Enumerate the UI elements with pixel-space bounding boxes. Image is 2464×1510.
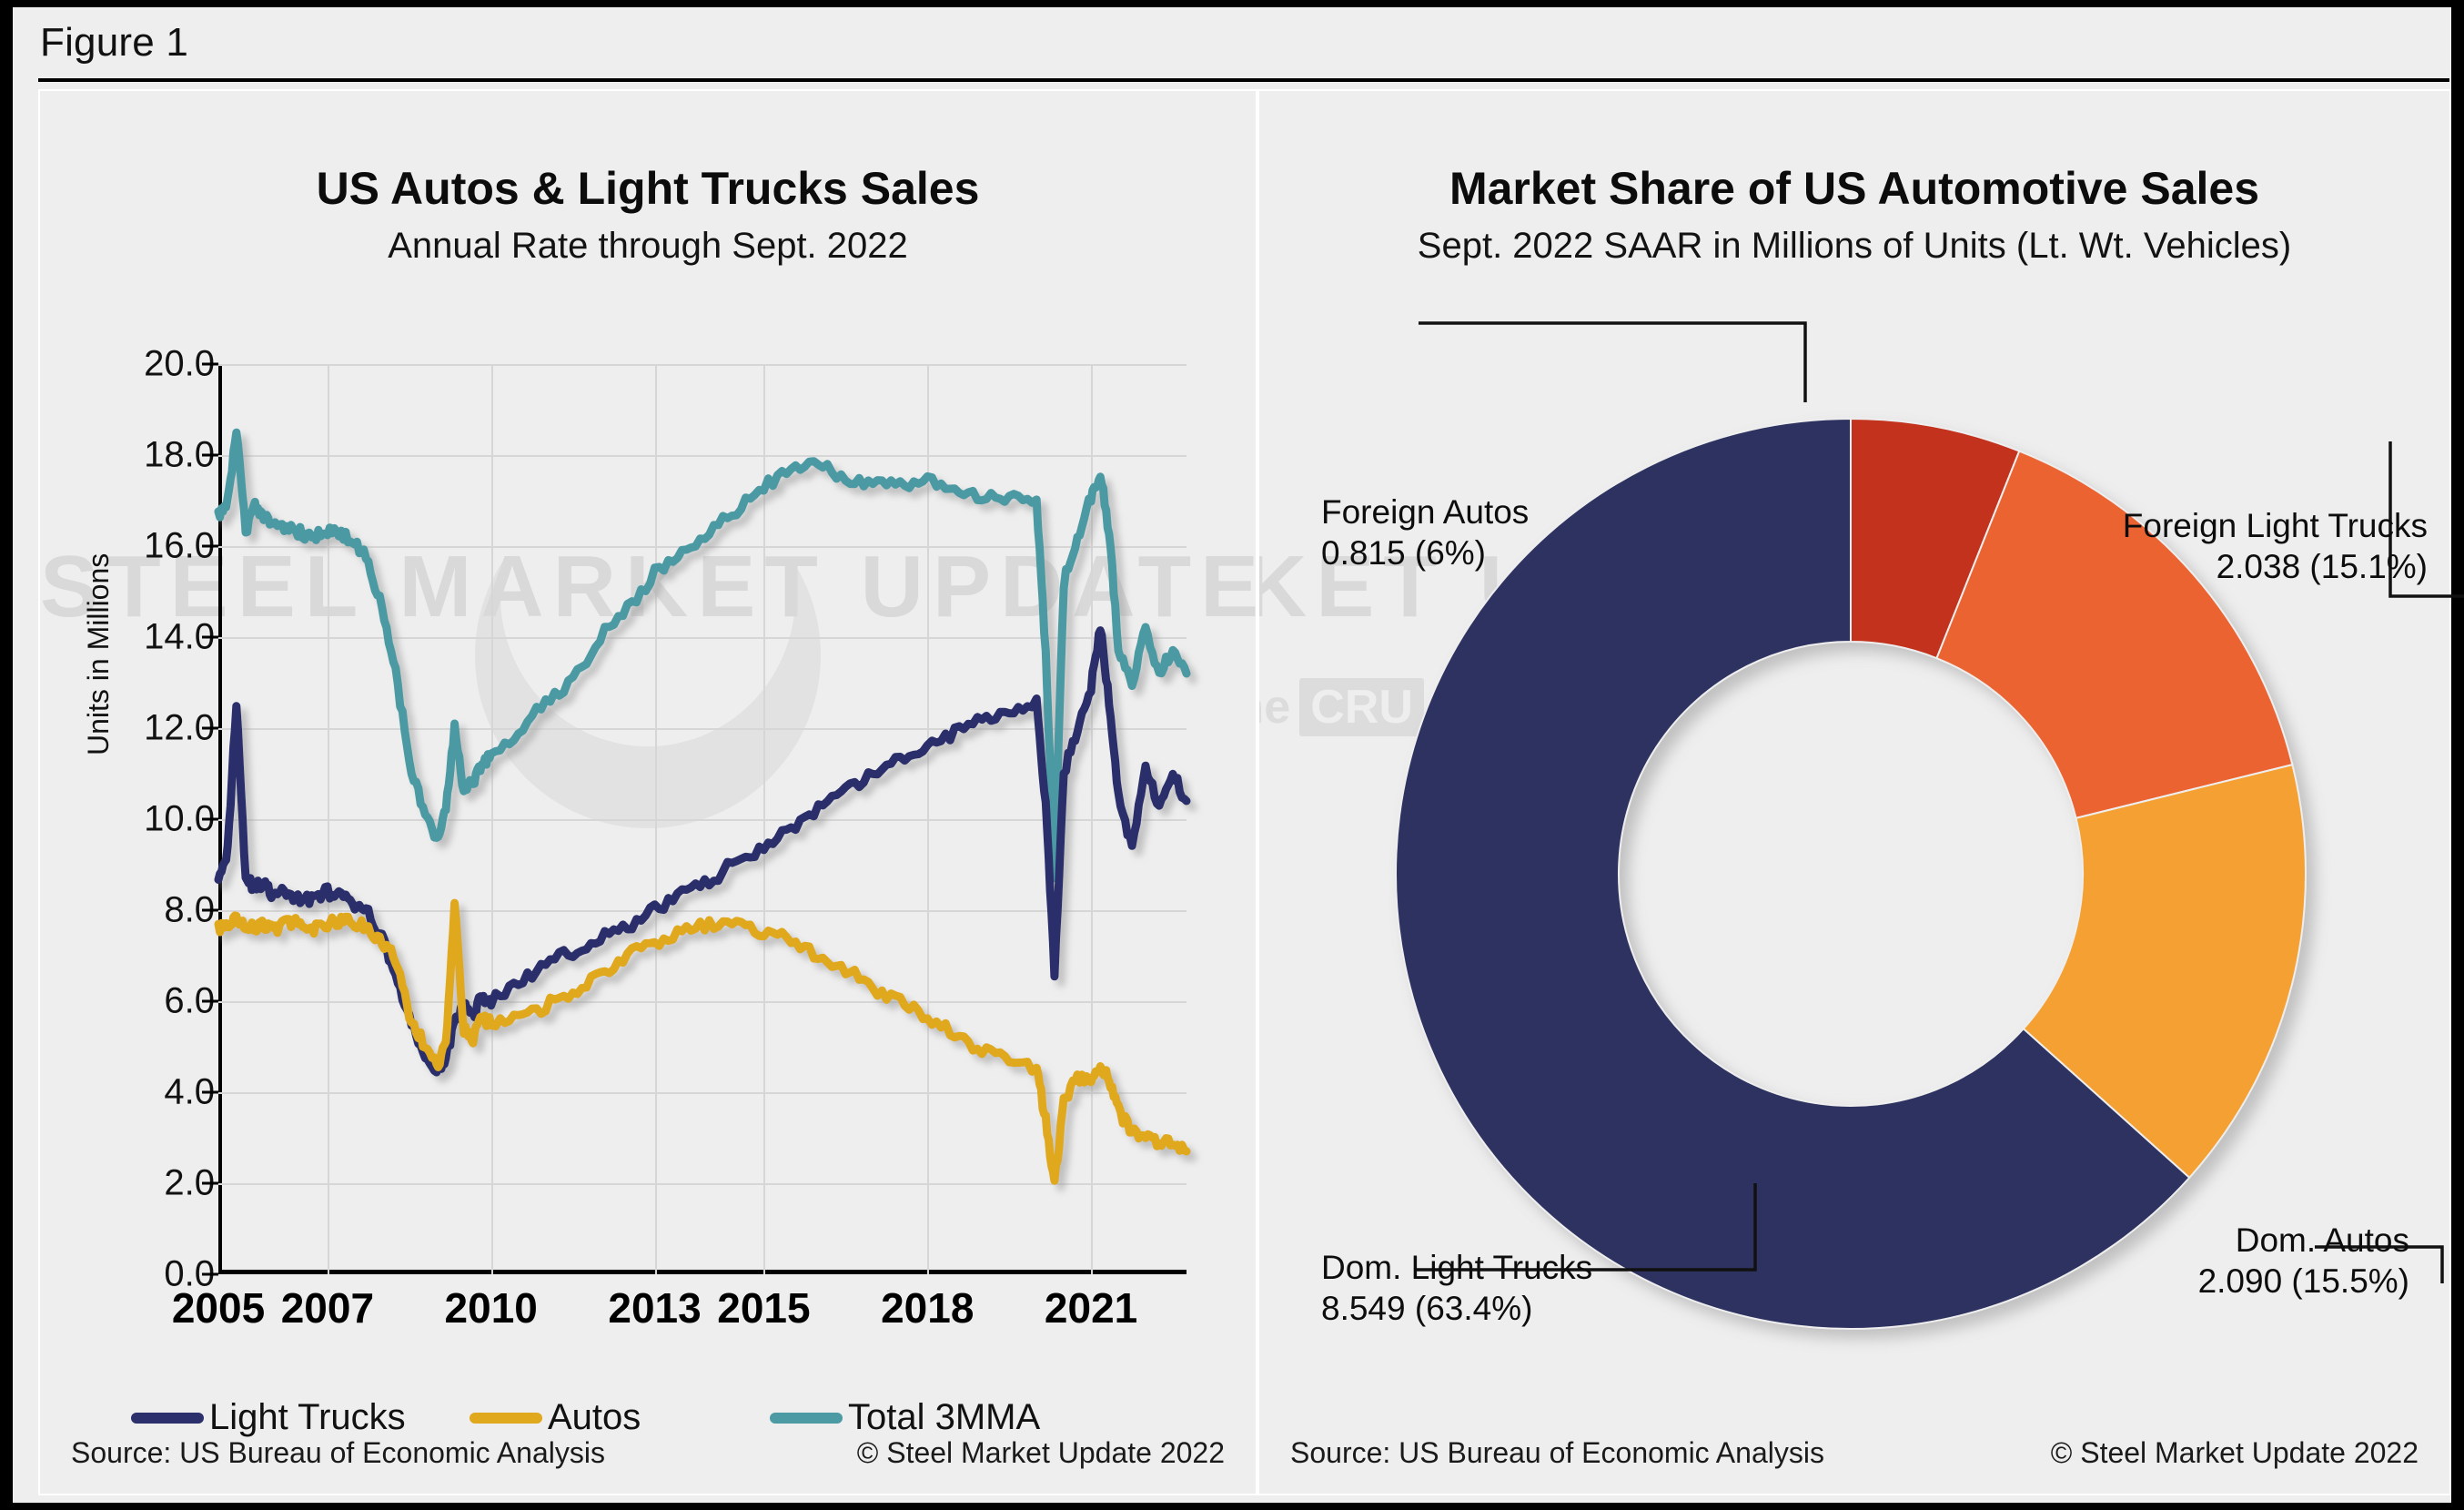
left-chart-title: US Autos & Light Trucks Sales <box>40 162 1256 215</box>
donut-label-dom-autos-value: 2.090 (15.5%) <box>2198 1261 2409 1302</box>
donut-label-foreign-light-trucks-name: Foreign Light Trucks <box>2123 505 2428 546</box>
figure-caption: Figure 1 <box>40 20 188 66</box>
left-chart-subtitle: Annual Rate through Sept. 2022 <box>40 226 1256 267</box>
x-tick-label: 2021 <box>1045 1283 1137 1333</box>
x-tick-label: 2013 <box>608 1283 701 1333</box>
right-chart-panel: STEEL MARKET UPDATE part of theCRUGroup … <box>1257 89 2451 1495</box>
left-chart-panel: STEEL MARKET UPDATE US Autos & Light Tru… <box>38 89 1257 1495</box>
y-tick-mark <box>202 363 218 366</box>
legend-label-light-trucks: Light Trucks <box>209 1397 406 1438</box>
line-series-total-3mma <box>218 432 1187 878</box>
donut-label-dom-light-trucks-value: 8.549 (63.4%) <box>1321 1288 1592 1329</box>
legend-label-autos: Autos <box>548 1397 641 1438</box>
line-series-autos <box>218 903 1187 1181</box>
x-tick-label: 2018 <box>881 1283 974 1333</box>
y-tick-mark <box>202 909 218 912</box>
donut-label-dom-autos: Dom. Autos 2.090 (15.5%) <box>2198 1220 2409 1302</box>
legend-swatch-icon-light-trucks <box>131 1413 204 1424</box>
donut-label-foreign-autos: Foreign Autos 0.815 (6%) <box>1321 492 1529 573</box>
x-tick-label: 2015 <box>717 1283 810 1333</box>
legend-item-total-3mma[interactable]: Total 3MMA <box>770 1397 1040 1438</box>
donut-label-foreign-light-trucks: Foreign Light Trucks 2.038 (15.1%) <box>2123 505 2428 587</box>
donut-label-foreign-light-trucks-value: 2.038 (15.1%) <box>2123 546 2428 587</box>
leader-line-foreign-autos <box>1419 323 1805 402</box>
y-tick-mark <box>202 1182 218 1185</box>
donut-label-dom-autos-name: Dom. Autos <box>2198 1220 2409 1261</box>
left-footer-copyright: © Steel Market Update 2022 <box>857 1436 1225 1470</box>
legend-item-light-trucks[interactable]: Light Trucks <box>131 1397 470 1438</box>
donut-label-foreign-autos-name: Foreign Autos <box>1321 492 1529 532</box>
y-tick-mark <box>202 818 218 821</box>
y-tick-mark <box>202 545 218 548</box>
right-footer-source: Source: US Bureau of Economic Analysis <box>1290 1436 1824 1470</box>
x-tick-label: 2005 <box>172 1283 265 1333</box>
y-tick-mark <box>202 1000 218 1003</box>
donut-label-foreign-autos-value: 0.815 (6%) <box>1321 532 1529 573</box>
legend-label-total-3mma: Total 3MMA <box>848 1397 1040 1438</box>
figure-frame: Figure 1 STEEL MARKET UPDATE US Autos & … <box>13 7 2451 1503</box>
x-tick-label: 2010 <box>445 1283 538 1333</box>
y-tick-mark <box>202 1091 218 1094</box>
donut-chart-area: Foreign Autos 0.815 (6%) Foreign Light T… <box>1259 91 2449 1494</box>
left-footer-source: Source: US Bureau of Economic Analysis <box>71 1436 605 1470</box>
legend-swatch-icon-autos <box>470 1413 542 1424</box>
y-tick-mark <box>202 1273 218 1276</box>
line-plot-area: Units in Millions 0.02.04.06.08.010.012.… <box>218 364 1187 1274</box>
right-footer-copyright: © Steel Market Update 2022 <box>2051 1436 2419 1470</box>
donut-label-dom-light-trucks-name: Dom. Light Trucks <box>1321 1247 1592 1288</box>
y-tick-mark <box>202 454 218 457</box>
y-tick-mark <box>202 636 218 639</box>
left-panel-footer: Source: US Bureau of Economic Analysis ©… <box>40 1436 1256 1470</box>
y-axis-label: Units in Millions <box>82 553 116 755</box>
line-series-svg <box>218 364 1187 1274</box>
legend-swatch-icon-total-3mma <box>770 1413 843 1424</box>
right-panel-footer: Source: US Bureau of Economic Analysis ©… <box>1259 1436 2449 1470</box>
donut-label-dom-light-trucks: Dom. Light Trucks 8.549 (63.4%) <box>1321 1247 1592 1329</box>
x-tick-label: 2007 <box>281 1283 374 1333</box>
legend-item-autos[interactable]: Autos <box>470 1397 770 1438</box>
chart-legend: Light Trucks Autos Total 3MMA <box>131 1397 1159 1438</box>
caption-divider <box>38 78 2449 82</box>
y-tick-mark <box>202 727 218 730</box>
panels-container: STEEL MARKET UPDATE US Autos & Light Tru… <box>38 89 2451 1495</box>
line-series-light-trucks <box>218 631 1187 1073</box>
